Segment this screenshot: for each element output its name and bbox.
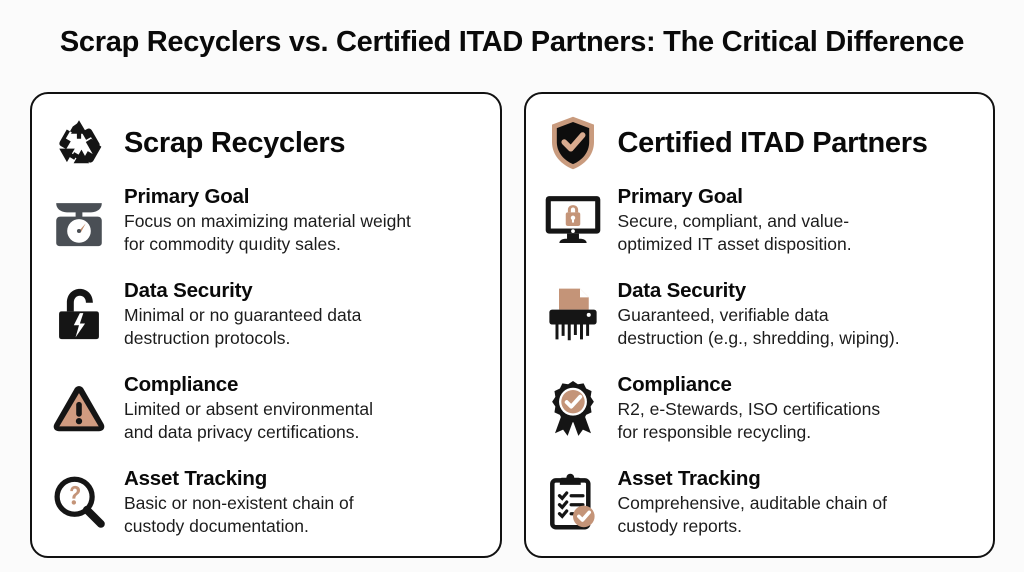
feature-row: Primary Goal Focus on maximizing materia… [50,182,480,268]
feature-body: Minimal or no guaranteed data destructio… [124,304,480,350]
recycle-icon [50,114,108,172]
weighing-scale-icon [50,184,108,256]
feature-body: Focus on maximizing material weight for … [124,210,480,256]
feature-body: Guaranteed, verifiable data destruction … [618,304,974,350]
magnifier-question-icon [50,466,108,538]
feature-row: Data Security Guaranteed, verifiable dat… [544,276,974,362]
feature-heading: Asset Tracking [618,466,974,491]
feature-body: Basic or non-existent chain of custody d… [124,492,480,538]
feature-row: Asset Tracking Basic or non-existent cha… [50,464,480,550]
feature-body: Secure, compliant, and value- optimized … [618,210,974,256]
feature-text: Data Security Guaranteed, verifiable dat… [618,276,974,350]
card-title: Scrap Recyclers [124,127,345,160]
award-ribbon-check-icon [544,372,602,444]
feature-heading: Asset Tracking [124,466,480,491]
feature-row: Compliance Limited or absent environment… [50,370,480,456]
broken-open-padlock-icon [50,278,108,350]
infographic-page: Scrap Recyclers vs. Certified ITAD Partn… [0,0,1024,572]
feature-row: Compliance R2, e-Stewards, ISO certifica… [544,370,974,456]
feature-rows-certified-itad-partners: Primary Goal Secure, compliant, and valu… [544,182,974,550]
feature-text: Compliance Limited or absent environment… [124,370,480,444]
feature-text: Primary Goal Focus on maximizing materia… [124,182,480,256]
feature-text: Asset Tracking Comprehensive, auditable … [618,464,974,538]
clipboard-check-icon [544,466,602,538]
feature-row: Data Security Minimal or no guaranteed d… [50,276,480,362]
feature-body: Limited or absent environmental and data… [124,398,480,444]
paper-shredder-icon [544,278,602,350]
comparison-cards: Scrap Recyclers [30,92,995,558]
card-title: Certified ITAD Partners [618,127,928,160]
feature-text: Asset Tracking Basic or non-existent cha… [124,464,480,538]
page-title: Scrap Recyclers vs. Certified ITAD Partn… [0,26,1024,59]
feature-heading: Data Security [618,278,974,303]
feature-row: Primary Goal Secure, compliant, and valu… [544,182,974,268]
feature-heading: Compliance [124,372,480,397]
card-header-certified-itad-partners: Certified ITAD Partners [544,112,974,174]
feature-heading: Primary Goal [124,184,480,209]
feature-text: Primary Goal Secure, compliant, and valu… [618,182,974,256]
warning-triangle-icon [50,372,108,444]
monitor-lock-icon [544,184,602,256]
feature-text: Compliance R2, e-Stewards, ISO certifica… [618,370,974,444]
feature-heading: Primary Goal [618,184,974,209]
card-header-scrap-recyclers: Scrap Recyclers [50,112,480,174]
feature-body: Comprehensive, auditable chain of custod… [618,492,974,538]
feature-text: Data Security Minimal or no guaranteed d… [124,276,480,350]
feature-body: R2, e-Stewards, ISO certifications for r… [618,398,974,444]
feature-heading: Data Security [124,278,480,303]
feature-heading: Compliance [618,372,974,397]
card-certified-itad-partners: Certified ITAD Partners [524,92,996,558]
feature-rows-scrap-recyclers: Primary Goal Focus on maximizing materia… [50,182,480,550]
card-scrap-recyclers: Scrap Recyclers [30,92,502,558]
shield-check-icon [544,114,602,172]
feature-row: Asset Tracking Comprehensive, auditable … [544,464,974,550]
